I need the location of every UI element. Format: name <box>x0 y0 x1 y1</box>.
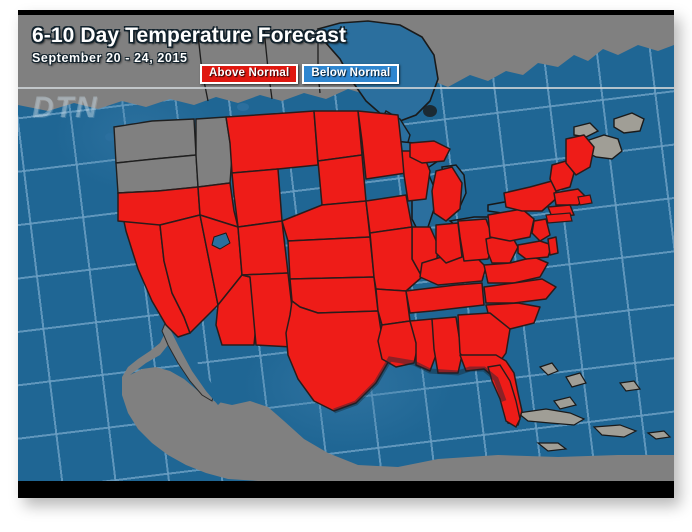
hispaniola <box>594 425 636 437</box>
state-maine <box>566 135 594 175</box>
state-montana <box>226 111 318 173</box>
cuba <box>518 409 584 425</box>
canada-lake-4 <box>237 103 249 111</box>
state-north-dakota <box>314 111 362 161</box>
bahamas-east <box>620 381 640 391</box>
screenshot-root: DTN 6-10 Day Temperature Forecast Septem… <box>0 0 692 532</box>
canada-lake-2 <box>105 133 115 141</box>
forecast-map-graphic[interactable] <box>18 15 674 481</box>
legend-below-normal[interactable]: Below Normal <box>302 64 399 84</box>
map-frame: DTN 6-10 Day Temperature Forecast Septem… <box>18 10 674 498</box>
us-neutral-states <box>114 117 232 193</box>
state-tennessee <box>406 283 484 313</box>
state-alabama <box>432 317 462 373</box>
legend-above-normal[interactable]: Above Normal <box>200 64 298 84</box>
new-brunswick <box>574 123 598 137</box>
jamaica <box>538 443 566 451</box>
state-south-dakota <box>318 155 366 205</box>
state-maryland <box>518 241 552 259</box>
cape-cod <box>578 195 592 205</box>
newfoundland <box>614 113 644 133</box>
bahamas-north <box>540 363 558 375</box>
state-delaware <box>548 237 558 255</box>
state-idaho-north <box>196 117 232 187</box>
state-colorado <box>238 221 288 275</box>
state-nebraska <box>282 201 370 241</box>
letterbox-bottom <box>18 481 674 498</box>
state-kansas <box>288 237 374 279</box>
state-indiana <box>436 223 462 263</box>
state-texas <box>286 301 390 411</box>
state-wyoming <box>232 169 282 227</box>
state-pennsylvania <box>488 209 534 241</box>
long-island <box>546 213 572 223</box>
state-michigan-lp <box>432 167 462 221</box>
state-minnesota <box>358 111 406 179</box>
canada-lake-1 <box>423 105 437 117</box>
state-michigan-up <box>410 141 450 163</box>
map-canvas[interactable]: DTN 6-10 Day Temperature Forecast Septem… <box>18 15 674 481</box>
legend: Above Normal Below Normal <box>200 64 399 84</box>
bahamas-south <box>554 397 576 409</box>
puerto-rico <box>648 431 670 439</box>
state-arkansas <box>376 289 410 325</box>
bahamas-mid <box>566 373 586 387</box>
caribbean-islands <box>518 363 670 451</box>
